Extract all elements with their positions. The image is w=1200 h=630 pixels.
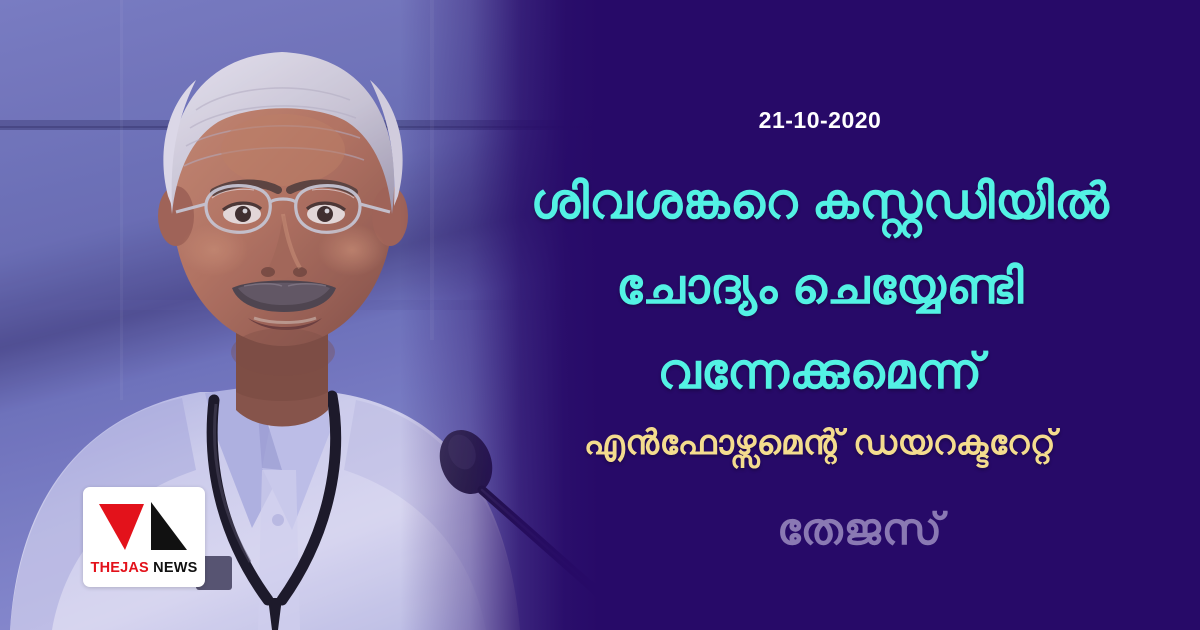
news-graphic-card: 21-10-2020 ശിവശങ്കറെ കസ്റ്റഡിയിൽ ചോദ്യം … <box>0 0 1200 630</box>
logo-word-thejas: THEJAS <box>91 560 149 576</box>
logo-wordmark: THEJAS NEWS <box>83 560 205 576</box>
headline-line-3: വന്നേക്കുമെന്ന് <box>470 330 1170 415</box>
publish-date: 21-10-2020 <box>470 107 1170 134</box>
thejas-news-logo: THEJAS NEWS <box>83 487 205 587</box>
logo-triangles-icon <box>83 494 205 556</box>
subheadline: എൻഫോഴ്സമെന്റ് ഡയറക്ടറേറ്റ് <box>470 420 1170 466</box>
logo-word-news: NEWS <box>149 560 198 576</box>
headline: ശിവശങ്കറെ കസ്റ്റഡിയിൽ ചോദ്യം ചെയ്യേണ്ടി … <box>470 160 1170 415</box>
headline-line-2: ചോദ്യം ചെയ്യേണ്ടി <box>470 245 1170 330</box>
thejas-watermark: തേജസ് <box>700 505 1020 555</box>
headline-line-1: ശിവശങ്കറെ കസ്റ്റഡിയിൽ <box>470 160 1170 245</box>
